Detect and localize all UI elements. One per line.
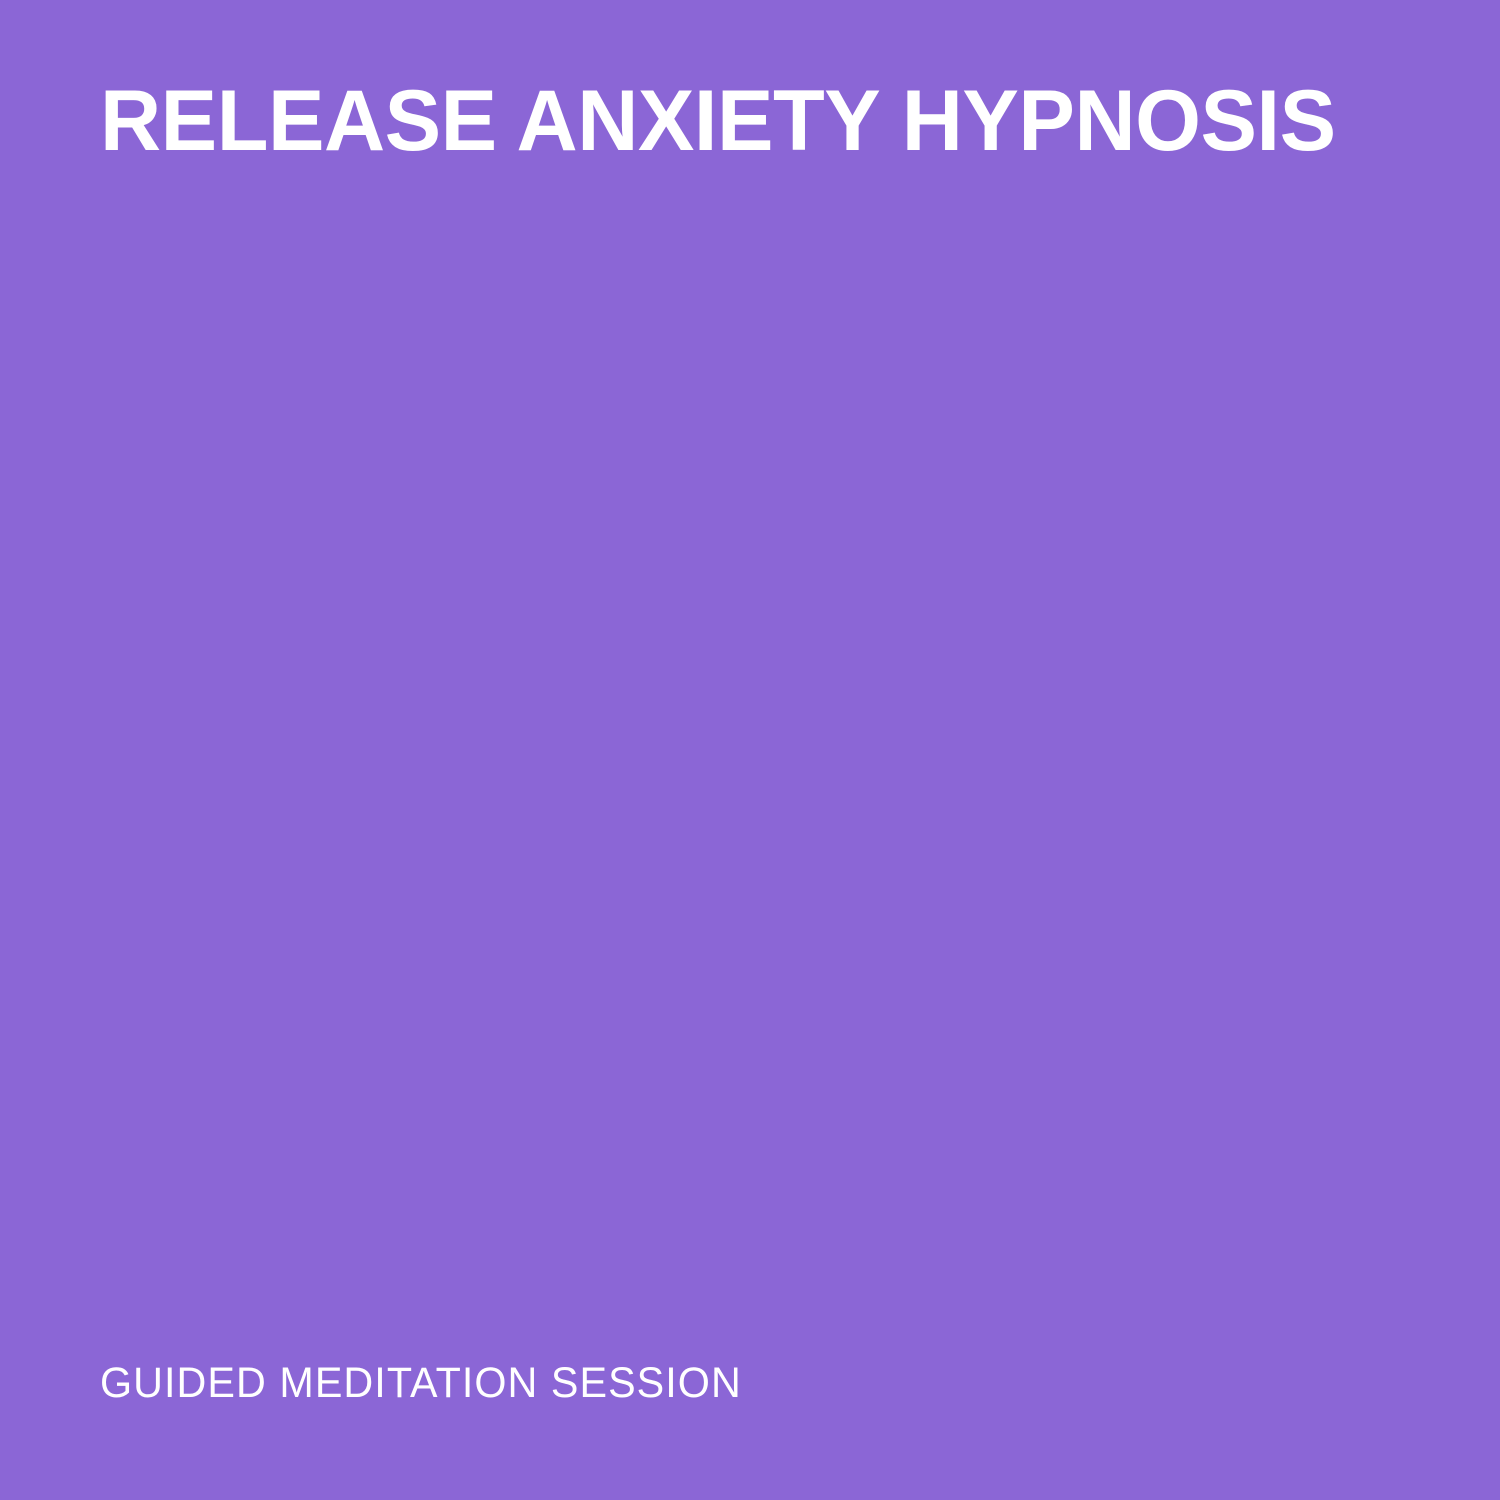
poster-canvas: RELEASE ANXIETY HYPNOSIS GUIDED MEDITATI… <box>0 0 1500 1500</box>
title-block: RELEASE ANXIETY HYPNOSIS <box>100 78 1420 164</box>
subtitle-block: GUIDED MEDITATION SESSION <box>100 1362 1420 1405</box>
poster-subtitle: GUIDED MEDITATION SESSION <box>100 1362 1367 1405</box>
page-title: RELEASE ANXIETY HYPNOSIS <box>100 78 1400 164</box>
